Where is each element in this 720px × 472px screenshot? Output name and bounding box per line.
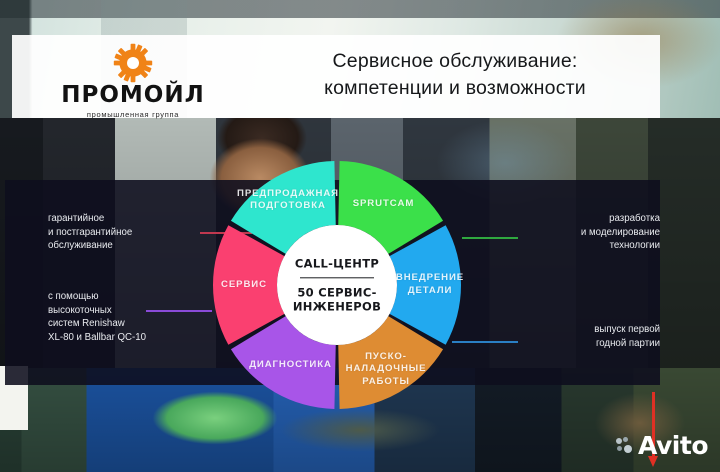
- avito-watermark: Avito: [616, 433, 708, 458]
- gear-icon: [113, 43, 153, 83]
- callout-line: выпуск первой: [520, 323, 660, 337]
- leader-line-razrabotka: [462, 237, 518, 239]
- callout-line: систем Renishaw: [48, 317, 208, 331]
- callout-renishaw: с помощьювысокоточныхсистем RenishawXL-8…: [48, 290, 208, 344]
- callout-line: разработка: [520, 212, 660, 226]
- center-call-center-label: CALL-ЦЕНТР: [285, 256, 389, 270]
- callout-vypusk: выпуск первойгодной партии: [520, 323, 660, 350]
- callout-line: и постгарантийное: [48, 226, 198, 240]
- callout-line: обслуживание: [48, 239, 198, 253]
- slide-title: Сервисное обслуживание: компетенции и во…: [270, 48, 640, 102]
- services-donut-chart: CALL-ЦЕНТР 50 СЕРВИС- ИНЖЕНЕРОВ ПРЕДПРОД…: [212, 160, 462, 410]
- callout-line: технологии: [520, 239, 660, 253]
- company-logo: ПРОМОЙЛ промышленная группа: [58, 43, 208, 119]
- slide-canvas: ПРОМОЙЛ промышленная группа Сервисное об…: [0, 0, 720, 472]
- callout-line: высокоточных: [48, 304, 208, 318]
- callout-line: гарантийное: [48, 212, 198, 226]
- slide-title-line-2: компетенции и возможности: [270, 75, 640, 102]
- callout-line: XL-80 и Ballbar QC-10: [48, 331, 208, 345]
- avito-wordmark: Avito: [638, 433, 708, 458]
- callout-garantiynoe: гарантийноеи постгарантийноеобслуживание: [48, 212, 198, 253]
- donut-center-text: CALL-ЦЕНТР 50 СЕРВИС- ИНЖЕНЕРОВ: [285, 256, 389, 313]
- logo-tagline: промышленная группа: [58, 110, 208, 119]
- center-divider: [300, 277, 374, 278]
- avito-dots-icon: [616, 437, 633, 454]
- callout-razrabotka: разработкаи моделированиетехнологии: [520, 212, 660, 253]
- callout-line: и моделирование: [520, 226, 660, 240]
- slide-title-line-1: Сервисное обслуживание:: [270, 48, 640, 75]
- center-engineers-label: 50 СЕРВИС- ИНЖЕНЕРОВ: [285, 286, 389, 314]
- logo-wordmark: ПРОМОЙЛ: [58, 84, 208, 107]
- callout-line: с помощью: [48, 290, 208, 304]
- callout-line: годной партии: [520, 337, 660, 351]
